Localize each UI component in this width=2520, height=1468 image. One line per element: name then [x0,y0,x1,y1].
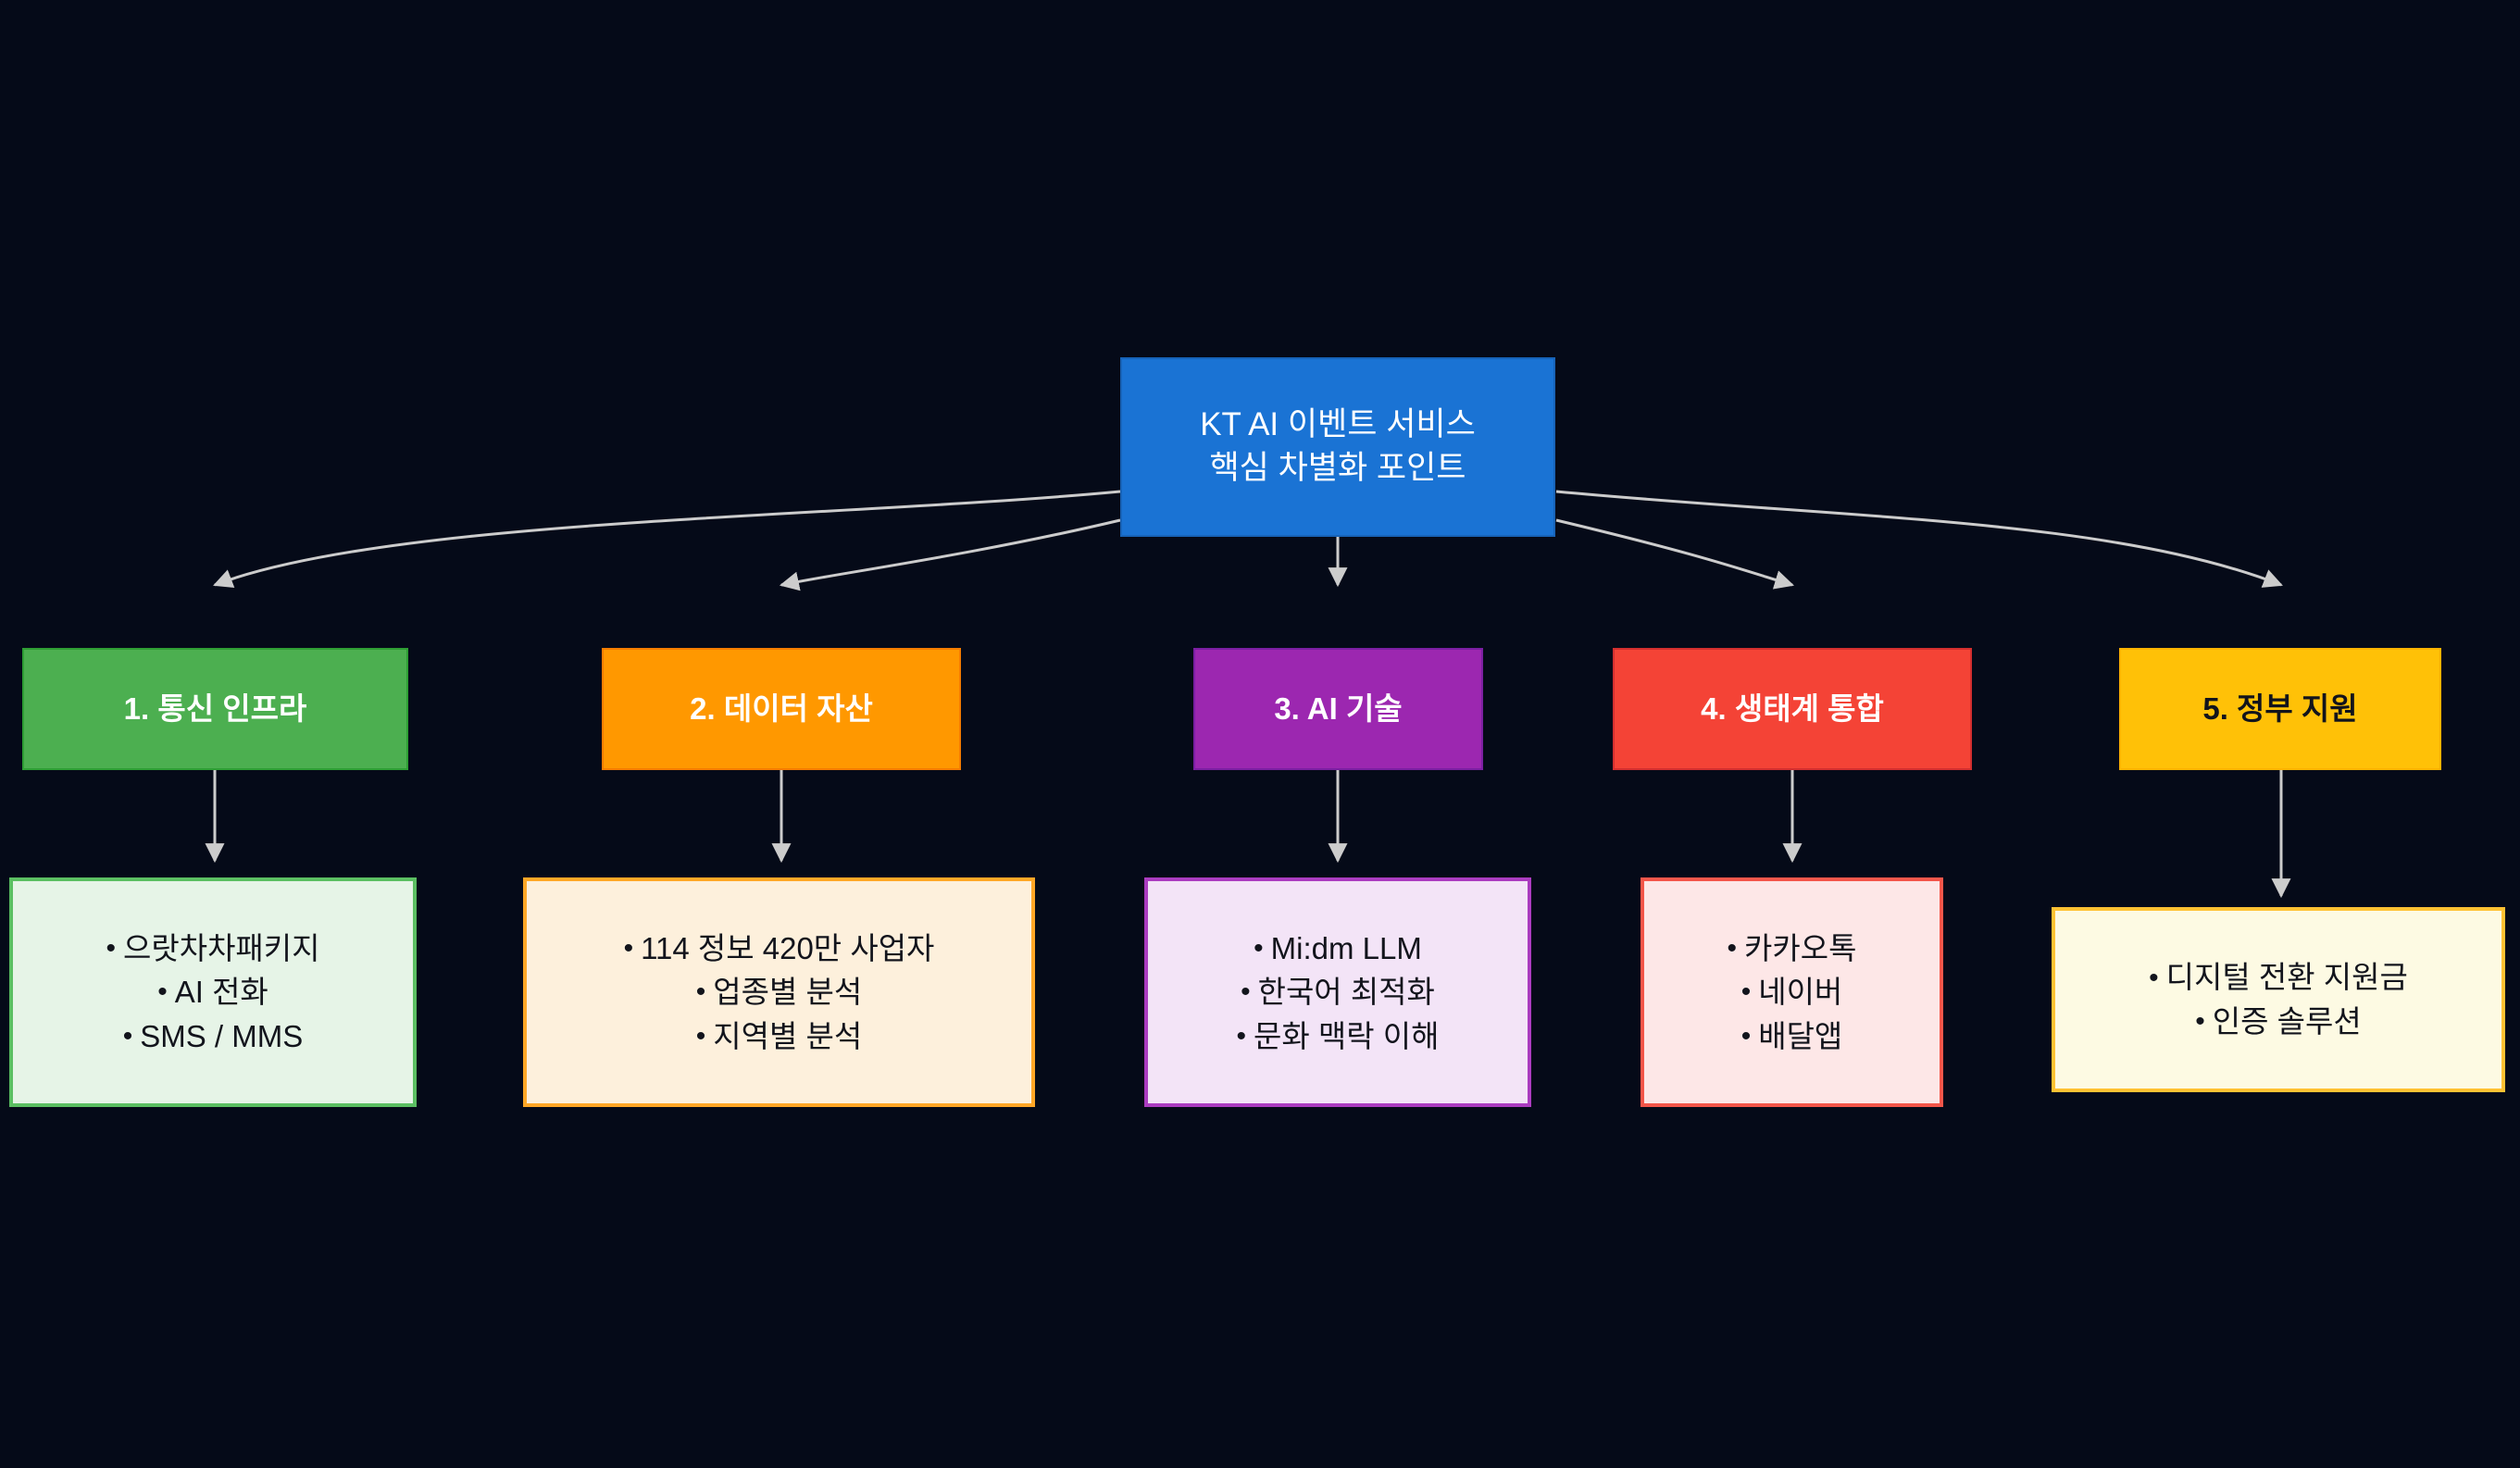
edge-root-to-branch-5 [1556,491,2281,585]
bullet-icon: • [1741,977,1752,1007]
detail-node-5-item-0: •디지털 전환 지원금 [2149,955,2408,1000]
category-node-3-label: 3. AI 기술 [1274,689,1402,729]
bullet-icon: • [106,933,116,964]
bullet-icon: • [2149,963,2159,993]
edge-root-to-branch-4 [1556,520,1792,585]
detail-node-2[interactable]: •114 정보 420만 사업자 •업종별 분석 •지역별 분석 [523,877,1035,1107]
edge-root-to-branch-1 [215,491,1120,585]
detail-node-2-item-2: •지역별 분석 [696,1014,862,1059]
detail-node-4[interactable]: •카카오톡 •네이버 •배달앱 [1640,877,1943,1107]
detail-node-5-item-1: •인증 솔루션 [2195,1000,2361,1044]
edge-root-to-branch-2 [781,520,1120,585]
bullet-icon: • [1241,977,1251,1007]
detail-node-3-item-1: •한국어 최적화 [1241,970,1435,1014]
detail-node-4-item-2: •배달앱 [1741,1014,1843,1059]
category-node-5-label: 5. 정부 지원 [2202,689,2357,729]
category-node-5[interactable]: 5. 정부 지원 [2119,648,2441,770]
bullet-icon: • [2195,1006,2205,1037]
category-node-1-label: 1. 통신 인프라 [124,689,307,729]
diagram-canvas: KT AI 이벤트 서비스 핵심 차별화 포인트 1. 통신 인프라 2. 데이… [0,0,2520,1468]
detail-node-4-item-1: •네이버 [1741,970,1843,1014]
category-node-4-label: 4. 생태계 통합 [1701,689,1884,729]
detail-node-1-item-0: •으랏차차패키지 [106,927,319,971]
detail-node-5[interactable]: •디지털 전환 지원금 •인증 솔루션 [2052,907,2505,1092]
detail-node-2-item-1: •업종별 분석 [696,970,862,1014]
bullet-icon: • [624,933,634,964]
root-node-label: KT AI 이벤트 서비스 핵심 차별화 포인트 [1200,404,1476,491]
bullet-icon: • [1236,1021,1246,1051]
bullet-icon: • [1741,1021,1752,1051]
detail-node-3[interactable]: •Mi:dm LLM •한국어 최적화 •문화 맥락 이해 [1144,877,1531,1107]
detail-node-3-item-0: •Mi:dm LLM [1254,927,1422,971]
detail-node-4-item-0: •카카오톡 [1728,927,1857,971]
root-node[interactable]: KT AI 이벤트 서비스 핵심 차별화 포인트 [1120,357,1555,537]
detail-node-1-item-2: •SMS / MMS [123,1014,304,1059]
bullet-icon: • [696,977,706,1007]
category-node-2-label: 2. 데이터 자산 [690,689,873,729]
bullet-icon: • [696,1021,706,1051]
bullet-icon: • [1728,933,1738,964]
detail-node-1[interactable]: •으랏차차패키지 •AI 전화 •SMS / MMS [9,877,417,1107]
category-node-4[interactable]: 4. 생태계 통합 [1613,648,1972,770]
bullet-icon: • [123,1021,133,1051]
bullet-icon: • [1254,933,1264,964]
detail-node-2-item-0: •114 정보 420만 사업자 [624,927,935,971]
detail-node-3-item-2: •문화 맥락 이해 [1236,1014,1439,1059]
category-node-1[interactable]: 1. 통신 인프라 [22,648,408,770]
category-node-3[interactable]: 3. AI 기술 [1193,648,1483,770]
category-node-2[interactable]: 2. 데이터 자산 [602,648,961,770]
detail-node-1-item-1: •AI 전화 [157,970,268,1014]
bullet-icon: • [157,977,168,1007]
